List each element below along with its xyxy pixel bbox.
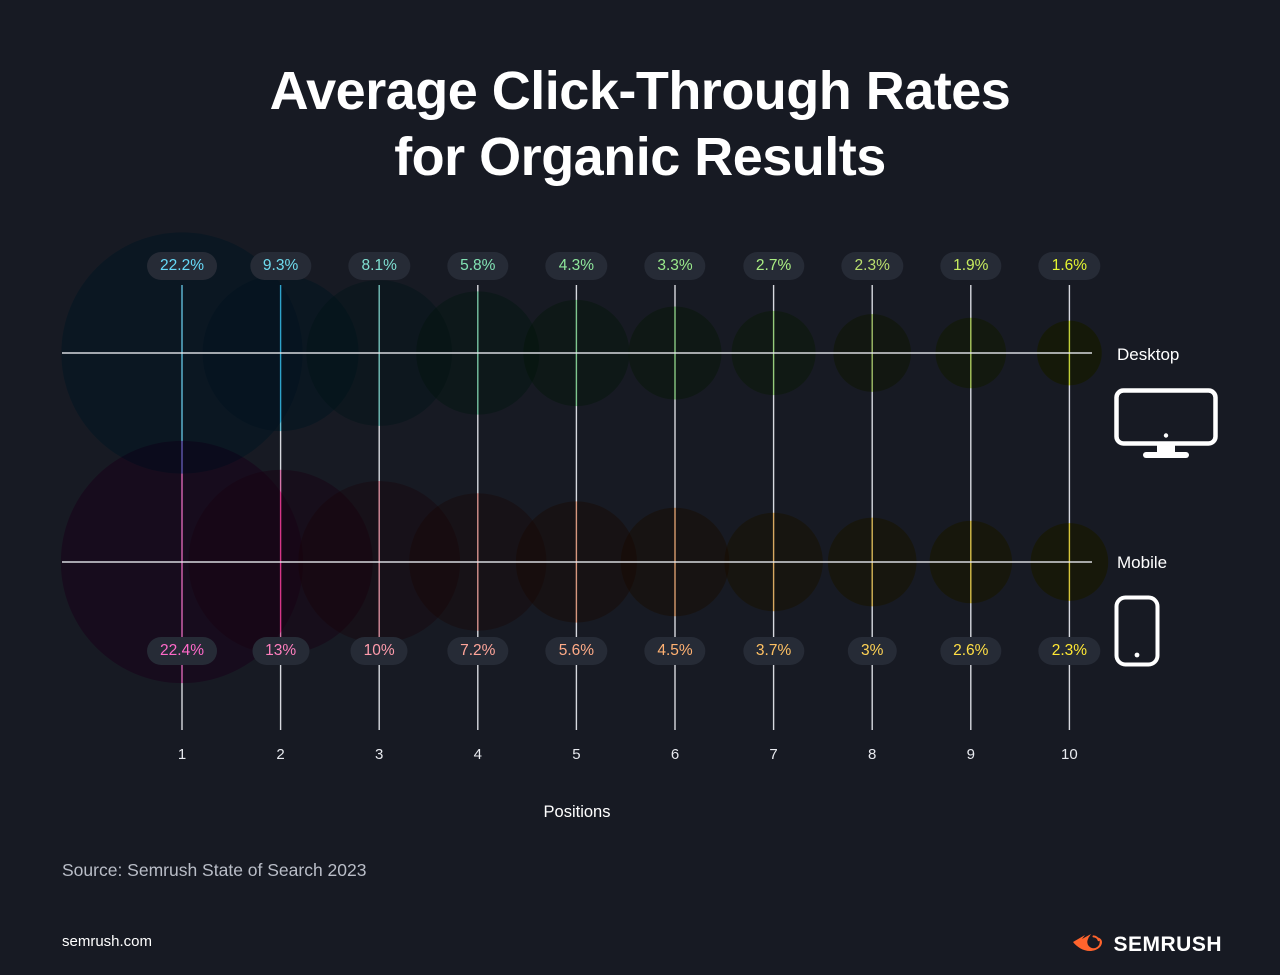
value-pill-desktop-pos-1: 22.2% <box>147 252 217 280</box>
smartphone-icon <box>1114 595 1162 672</box>
x-tick-6: 6 <box>671 746 679 763</box>
source-note: Source: Semrush State of Search 2023 <box>62 860 366 881</box>
semrush-comet-icon <box>1071 929 1105 960</box>
x-tick-1: 1 <box>178 746 186 763</box>
x-tick-8: 8 <box>868 746 876 763</box>
value-pill-desktop-pos-6: 3.3% <box>644 252 705 280</box>
value-pill-mobile-pos-8: 3% <box>848 637 896 665</box>
value-pill-mobile-pos-7: 3.7% <box>743 637 804 665</box>
bubble-chart <box>0 0 1280 975</box>
x-tick-9: 9 <box>967 746 975 763</box>
legend-label-mobile: Mobile <box>1117 553 1167 573</box>
x-tick-5: 5 <box>572 746 580 763</box>
site-url: semrush.com <box>62 933 152 950</box>
x-tick-3: 3 <box>375 746 383 763</box>
value-pill-mobile-pos-5: 5.6% <box>546 637 607 665</box>
value-pill-desktop-pos-2: 9.3% <box>250 252 311 280</box>
value-pill-desktop-pos-10: 1.6% <box>1039 252 1100 280</box>
x-axis-title: Positions <box>544 803 611 822</box>
value-pill-desktop-pos-4: 5.8% <box>447 252 508 280</box>
value-pill-desktop-pos-7: 2.7% <box>743 252 804 280</box>
value-pill-desktop-pos-3: 8.1% <box>349 252 410 280</box>
value-pill-mobile-pos-6: 4.5% <box>644 637 705 665</box>
value-pill-mobile-pos-3: 10% <box>351 637 408 665</box>
x-tick-2: 2 <box>276 746 284 763</box>
x-tick-7: 7 <box>769 746 777 763</box>
value-pill-mobile-pos-9: 2.6% <box>940 637 1001 665</box>
semrush-wordmark: SEMRUSH <box>1113 933 1222 957</box>
value-pill-mobile-pos-2: 13% <box>252 637 309 665</box>
value-pill-mobile-pos-4: 7.2% <box>447 637 508 665</box>
value-pill-desktop-pos-5: 4.3% <box>546 252 607 280</box>
value-pill-desktop-pos-8: 2.3% <box>842 252 903 280</box>
value-pill-desktop-pos-9: 1.9% <box>940 252 1001 280</box>
semrush-logo: SEMRUSH <box>1071 929 1222 960</box>
infographic-canvas: Average Click-Through Rates for Organic … <box>0 0 1280 975</box>
legend-label-desktop: Desktop <box>1117 345 1179 365</box>
x-tick-10: 10 <box>1061 746 1078 763</box>
value-pill-mobile-pos-10: 2.3% <box>1039 637 1100 665</box>
x-tick-4: 4 <box>474 746 482 763</box>
value-pill-mobile-pos-1: 22.4% <box>147 637 217 665</box>
monitor-icon <box>1114 388 1218 465</box>
